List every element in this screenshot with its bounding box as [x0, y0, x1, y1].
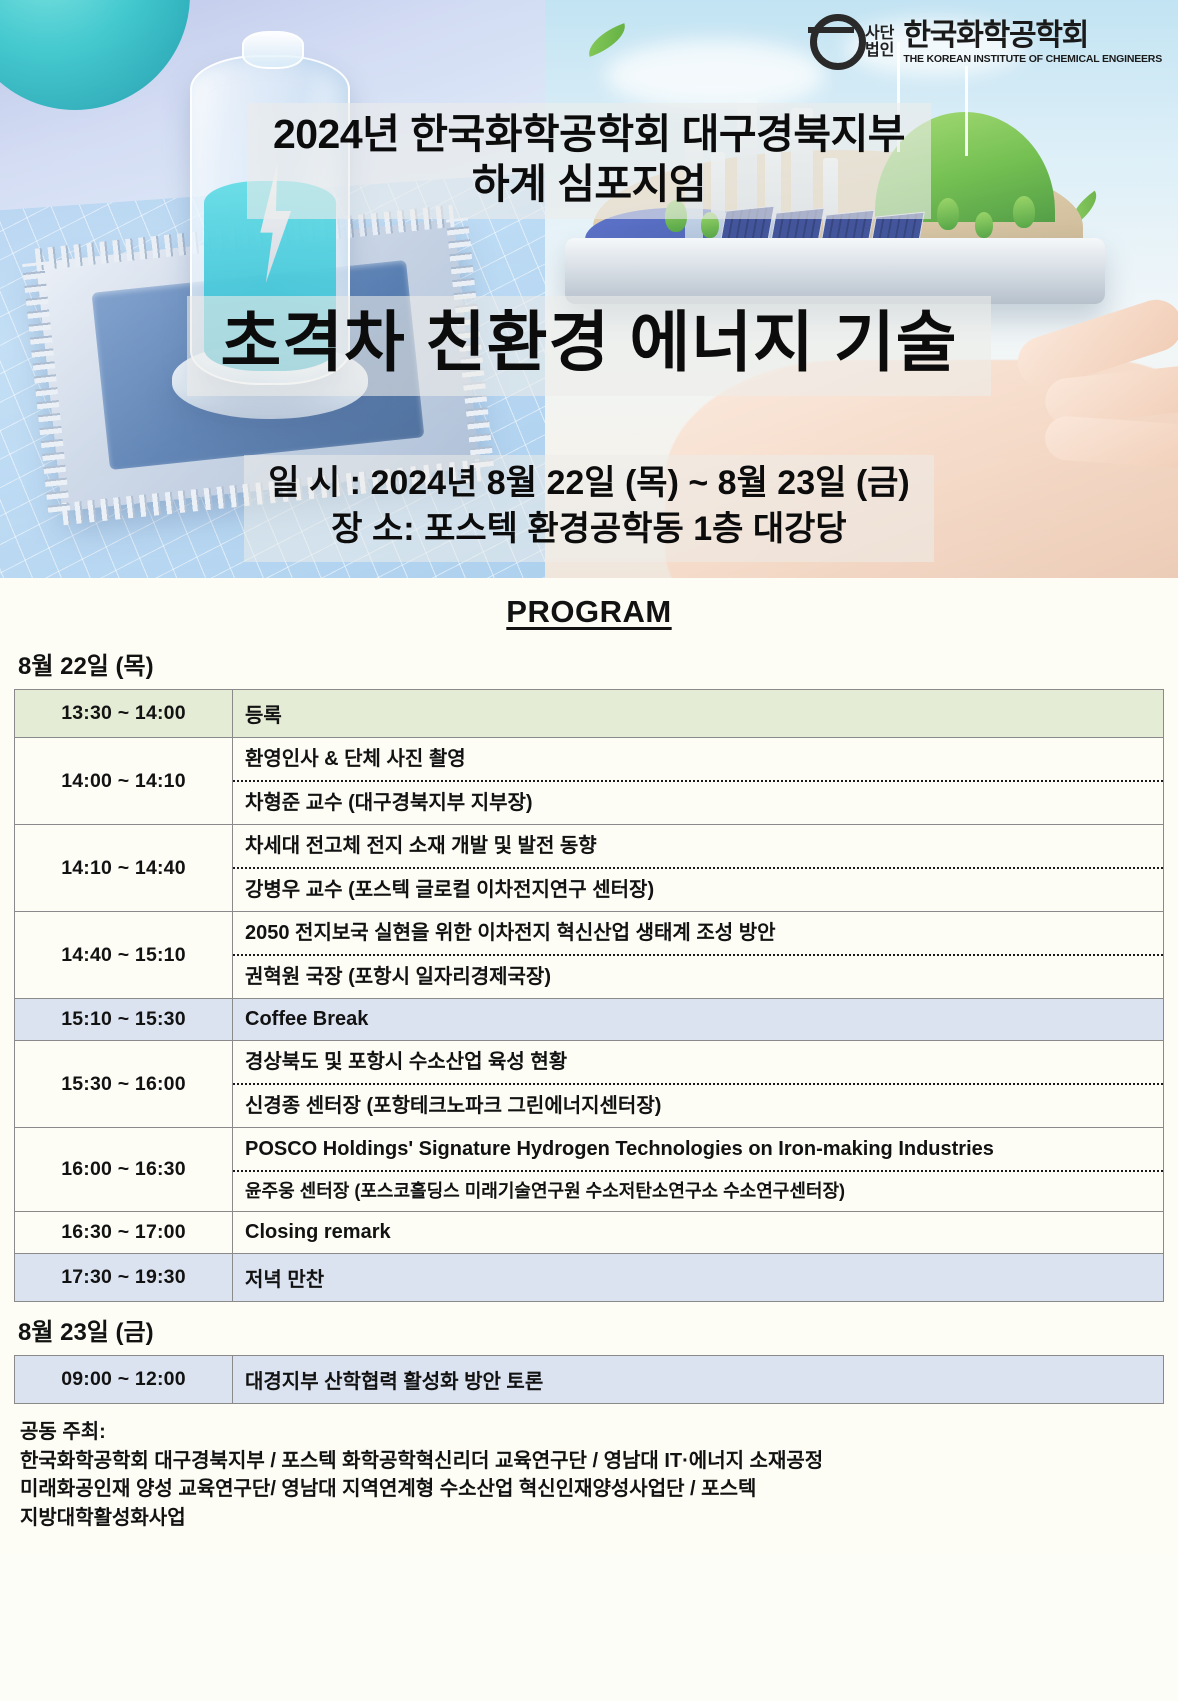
row-content: 환영인사 & 단체 사진 촬영 차형준 교수 (대구경북지부 지부장): [233, 738, 1164, 825]
event-datetime-venue: 일 시 : 2024년 8월 22일 (목) ~ 8월 23일 (금) 장 소:…: [0, 455, 1178, 562]
event-date-line: 일 시 : 2024년 8월 22일 (목) ~ 8월 23일 (금): [268, 461, 910, 507]
row-content: 경상북도 및 포항시 수소산업 육성 현황 신경종 센터장 (포항테크노파크 그…: [233, 1041, 1164, 1128]
row-content: Closing remark: [233, 1212, 1164, 1254]
row-time: 13:30 ~ 14:00: [15, 690, 233, 738]
co-organizers: 공동 주최: 한국화학공학회 대구경북지부 / 포스텍 화학공학혁신리더 교육연…: [14, 1404, 1164, 1544]
row-title: 등록: [233, 690, 1163, 737]
day2-heading: 8월 23일 (금): [14, 1302, 1164, 1355]
day1-heading: 8월 22일 (목): [14, 636, 1164, 689]
logo-prefix-line1: 사단: [865, 26, 894, 43]
tablet-device: [565, 238, 1105, 304]
row-content: 등록: [233, 690, 1164, 738]
row-title: 환영인사 & 단체 사진 촬영: [233, 738, 1163, 780]
teal-sphere-decoration: [0, 0, 190, 110]
table-row: 16:00 ~ 16:30 POSCO Holdings' Signature …: [15, 1128, 1164, 1212]
cloud-decoration: [605, 40, 825, 110]
row-speaker: 강병우 교수 (포스텍 글로컬 이차전지연구 센터장): [233, 867, 1163, 911]
battery-cap: [242, 31, 304, 69]
row-time: 17:30 ~ 19:30: [15, 1254, 233, 1302]
row-speaker: 신경종 센터장 (포항테크노파크 그린에너지센터장): [233, 1083, 1163, 1127]
row-time: 14:10 ~ 14:40: [15, 825, 233, 912]
co-organizers-line3: 지방대학활성화사업: [20, 1504, 1158, 1532]
table-row: 15:10 ~ 15:30 Coffee Break: [15, 999, 1164, 1041]
emblem-ring: [810, 14, 866, 70]
row-time: 16:30 ~ 17:00: [15, 1212, 233, 1254]
row-time: 09:00 ~ 12:00: [15, 1356, 233, 1404]
program-section: PROGRAM 8월 22일 (목) 13:30 ~ 14:00 등록 14:0…: [0, 578, 1178, 1554]
row-content: 2050 전지보국 실현을 위한 이차전지 혁신산업 생태계 조성 방안 권혁원…: [233, 912, 1164, 999]
row-title: 차세대 전고체 전지 소재 개발 및 발전 동향: [233, 825, 1163, 867]
co-organizers-line2: 미래화공인재 양성 교육연구단/ 영남대 지역연계형 수소산업 혁신인재양성사업…: [20, 1475, 1158, 1503]
event-datetime-venue-band: 일 시 : 2024년 8월 22일 (목) ~ 8월 23일 (금) 장 소:…: [244, 455, 934, 562]
row-title: 저녁 만찬: [233, 1254, 1163, 1301]
hero-banner: 사단 법인 한국화학공학회 THE KOREAN INSTITUTE OF CH…: [0, 0, 1178, 578]
row-time: 14:00 ~ 14:10: [15, 738, 233, 825]
row-title: 대경지부 산학협력 활성화 방안 토론: [233, 1356, 1163, 1403]
row-content: POSCO Holdings' Signature Hydrogen Techn…: [233, 1128, 1164, 1212]
table-row: 16:30 ~ 17:00 Closing remark: [15, 1212, 1164, 1254]
row-speaker: 윤주웅 센터장 (포스코홀딩스 미래기술연구원 수소저탄소연구소 수소연구센터장…: [233, 1170, 1163, 1211]
row-time: 15:30 ~ 16:00: [15, 1041, 233, 1128]
event-title-line1: 2024년 한국화학공학회 대구경북지부: [273, 109, 905, 159]
table-row: 14:00 ~ 14:10 환영인사 & 단체 사진 촬영 차형준 교수 (대구…: [15, 738, 1164, 825]
table-row: 14:40 ~ 15:10 2050 전지보국 실현을 위한 이차전지 혁신산업…: [15, 912, 1164, 999]
table-row: 13:30 ~ 14:00 등록: [15, 690, 1164, 738]
row-content: Coffee Break: [233, 999, 1164, 1041]
co-organizers-line1: 한국화학공학회 대구경북지부 / 포스텍 화학공학혁신리더 교육연구단 / 영남…: [20, 1447, 1158, 1475]
table-row: 14:10 ~ 14:40 차세대 전고체 전지 소재 개발 및 발전 동향 강…: [15, 825, 1164, 912]
logo-corporate-prefix: 사단 법인: [865, 26, 894, 59]
table-row: 17:30 ~ 19:30 저녁 만찬: [15, 1254, 1164, 1302]
row-content: 저녁 만찬: [233, 1254, 1164, 1302]
kiche-logo: 사단 법인 한국화학공학회 THE KOREAN INSTITUTE OF CH…: [806, 16, 1162, 70]
row-title: POSCO Holdings' Signature Hydrogen Techn…: [233, 1128, 1163, 1170]
day1-schedule-table: 13:30 ~ 14:00 등록 14:00 ~ 14:10 환영인사 & 단체…: [14, 689, 1164, 1302]
row-time: 16:00 ~ 16:30: [15, 1128, 233, 1212]
row-time: 15:10 ~ 15:30: [15, 999, 233, 1041]
event-title-line2: 하계 심포지엄: [273, 159, 905, 209]
row-content: 대경지부 산학협력 활성화 방안 토론: [233, 1356, 1164, 1404]
day2-schedule-table: 09:00 ~ 12:00 대경지부 산학협력 활성화 방안 토론: [14, 1355, 1164, 1404]
event-subject-band: 초격차 친환경 에너지 기술: [187, 296, 992, 396]
logo-prefix-line2: 법인: [865, 43, 894, 60]
table-row: 15:30 ~ 16:00 경상북도 및 포항시 수소산업 육성 현황 신경종 …: [15, 1041, 1164, 1128]
row-speaker: 차형준 교수 (대구경북지부 지부장): [233, 780, 1163, 824]
row-title: Closing remark: [233, 1212, 1163, 1253]
symposium-poster: 사단 법인 한국화학공학회 THE KOREAN INSTITUTE OF CH…: [0, 0, 1178, 1701]
event-venue-line: 장 소: 포스텍 환경공학동 1층 대강당: [268, 507, 910, 553]
leaf-icon: [583, 23, 631, 57]
event-subject: 초격차 친환경 에너지 기술: [0, 296, 1178, 396]
row-title: Coffee Break: [233, 999, 1163, 1040]
logo-korean-name: 한국화학공학회: [903, 21, 1162, 51]
row-time: 14:40 ~ 15:10: [15, 912, 233, 999]
program-heading: PROGRAM: [14, 578, 1164, 636]
co-organizers-label: 공동 주최:: [20, 1418, 1158, 1446]
row-title: 2050 전지보국 실현을 위한 이차전지 혁신산업 생태계 조성 방안: [233, 912, 1163, 954]
event-title: 2024년 한국화학공학회 대구경북지부 하계 심포지엄: [0, 103, 1178, 219]
table-row: 09:00 ~ 12:00 대경지부 산학협력 활성화 방안 토론: [15, 1356, 1164, 1404]
kiche-emblem-icon: [806, 16, 856, 70]
row-speaker: 권혁원 국장 (포항시 일자리경제국장): [233, 954, 1163, 998]
row-title: 경상북도 및 포항시 수소산업 육성 현황: [233, 1041, 1163, 1083]
logo-english-name: THE KOREAN INSTITUTE OF CHEMICAL ENGINEE…: [903, 53, 1162, 65]
row-content: 차세대 전고체 전지 소재 개발 및 발전 동향 강병우 교수 (포스텍 글로컬…: [233, 825, 1164, 912]
logo-names: 한국화학공학회 THE KOREAN INSTITUTE OF CHEMICAL…: [903, 21, 1162, 65]
event-title-band: 2024년 한국화학공학회 대구경북지부 하계 심포지엄: [247, 103, 931, 219]
